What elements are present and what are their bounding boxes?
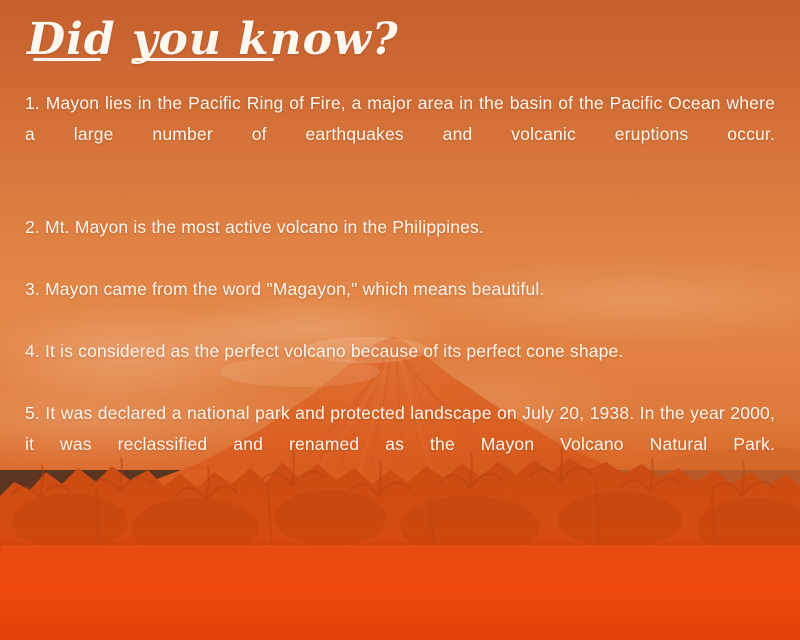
list-item: 4. It is considered as the perfect volca… xyxy=(25,336,775,367)
did-you-know-poster: Did you know? 1. Mayon lies in the Pacif… xyxy=(0,0,800,640)
list-item: 2. Mt. Mayon is the most active volcano … xyxy=(25,212,775,243)
facts-list: 1. Mayon lies in the Pacific Ring of Fir… xyxy=(25,88,775,491)
poster-content: Did you know? 1. Mayon lies in the Pacif… xyxy=(25,0,775,640)
list-item: 1. Mayon lies in the Pacific Ring of Fir… xyxy=(25,88,775,181)
list-item: 3. Mayon came from the word "Magayon," w… xyxy=(25,274,775,305)
title-underline-left xyxy=(33,58,101,61)
title-underline-right xyxy=(134,58,274,61)
list-item: 5. It was declared a national park and p… xyxy=(25,398,775,491)
